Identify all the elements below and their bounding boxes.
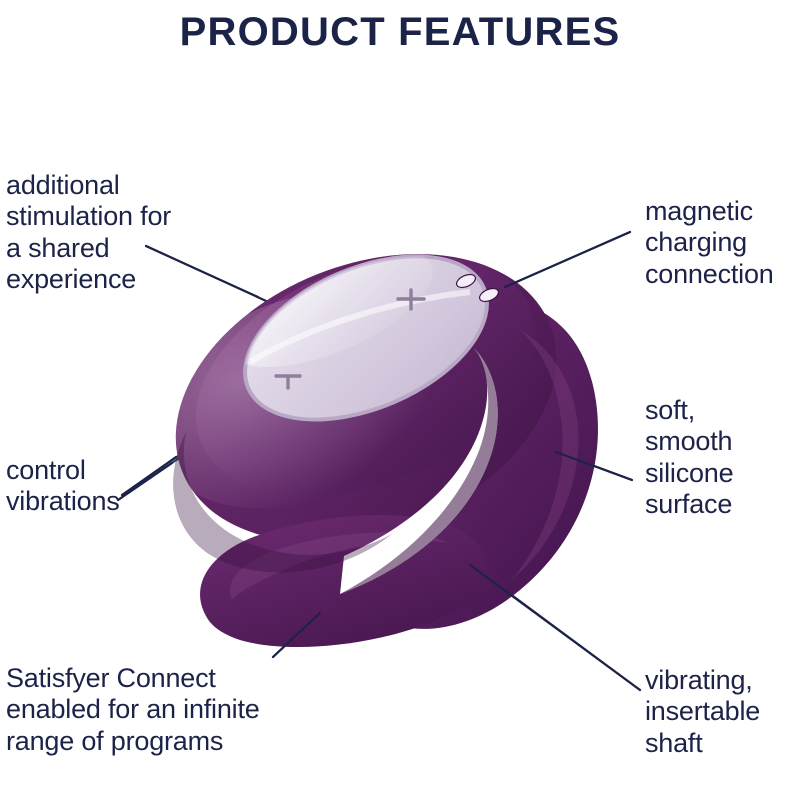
product-features-infographic: PRODUCT FEATURES <box>0 0 800 800</box>
callout-magnetic-charging: magnetic charging connection <box>645 196 800 290</box>
callout-control-vibrations: control vibrations <box>6 455 236 518</box>
leader-line-shaft-top <box>470 565 640 690</box>
leader-line-magnetic-top <box>505 232 630 287</box>
callout-soft-silicone: soft, smooth silicone surface <box>645 395 800 520</box>
callout-additional-stimulation: additional stimulation for a shared expe… <box>6 170 246 295</box>
callout-satisfyer-connect: Satisfyer Connect enabled for an infinit… <box>6 663 351 757</box>
callout-insertable-shaft: vibrating, insertable shaft <box>645 665 800 759</box>
